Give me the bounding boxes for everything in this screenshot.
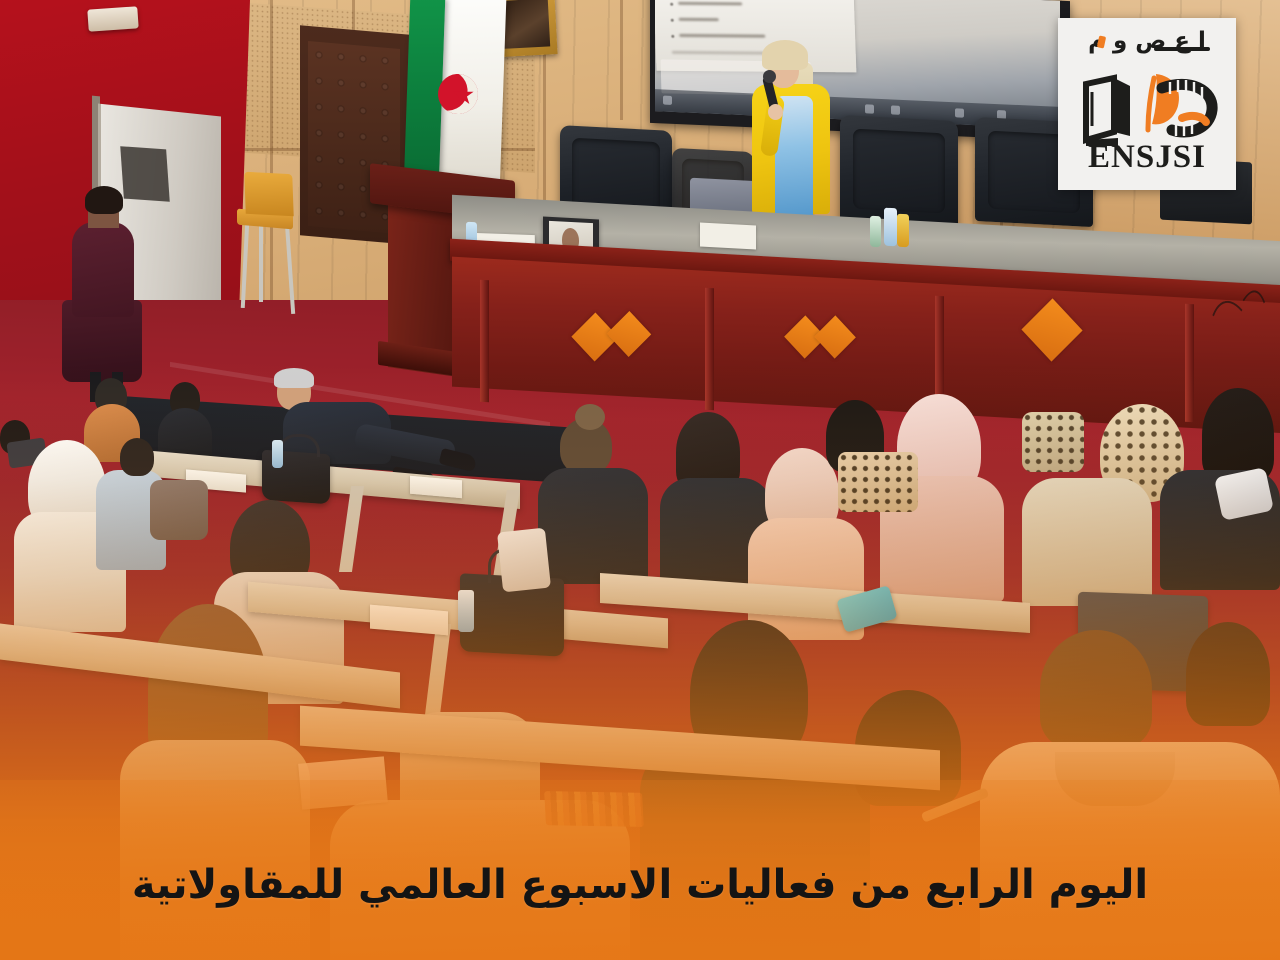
- water-bottle: [272, 440, 283, 468]
- desk-divider: [1185, 304, 1194, 423]
- audience-hair: [1202, 388, 1274, 482]
- logo-book-feather-icon: [1078, 66, 1222, 150]
- desk-divider: [480, 280, 489, 403]
- ensjsi-logo: ا ع ص و م E: [1058, 18, 1236, 190]
- audience-plaid-sleeve: [150, 480, 208, 540]
- audience-curly-hair: [1040, 630, 1152, 748]
- desk-divider: [705, 288, 714, 411]
- panel-seam: [620, 0, 623, 120]
- hoodie-collar: [1055, 752, 1175, 806]
- audience-body: [120, 740, 310, 960]
- stool-leg: [259, 224, 263, 302]
- attendee-hair: [85, 186, 123, 214]
- speaker-hair-top: [762, 40, 808, 70]
- patterned-scarf: [1022, 412, 1084, 472]
- stool-backrest: [244, 172, 293, 217]
- executive-chair: [840, 115, 958, 227]
- audience-hair-grey: [274, 368, 314, 388]
- microphone-head: [763, 70, 776, 83]
- wall-mounted-speaker: [87, 6, 138, 31]
- attendee-body: [72, 222, 134, 317]
- notebook: [298, 756, 388, 809]
- paper-sheet: [700, 223, 756, 250]
- speaker-hand: [768, 104, 783, 120]
- logo-dash-icon: [1154, 47, 1210, 51]
- paper-stack: [497, 528, 551, 593]
- audience-hair: [1186, 622, 1270, 726]
- hair-bun: [575, 404, 605, 430]
- pencil-case: [544, 791, 644, 827]
- logo-acronym: ENSJSI: [1058, 139, 1236, 176]
- water-bottle: [458, 590, 474, 632]
- projection-screen: [655, 0, 1060, 129]
- door-glass-panel: [120, 146, 170, 202]
- leopard-print-scarf: [838, 452, 918, 512]
- audience-body: [1022, 478, 1152, 606]
- audience-body: [538, 468, 648, 584]
- water-bottle: [870, 216, 881, 248]
- bag-handle: [278, 434, 320, 457]
- photo-caption: اليوم الرابع من فعاليات الاسبوع العالمي …: [0, 862, 1280, 909]
- audience-head: [120, 438, 154, 476]
- water-bottle: [884, 208, 897, 247]
- photo-canvas: ا ع ص و م E: [0, 0, 1280, 960]
- juice-bottle: [897, 214, 909, 248]
